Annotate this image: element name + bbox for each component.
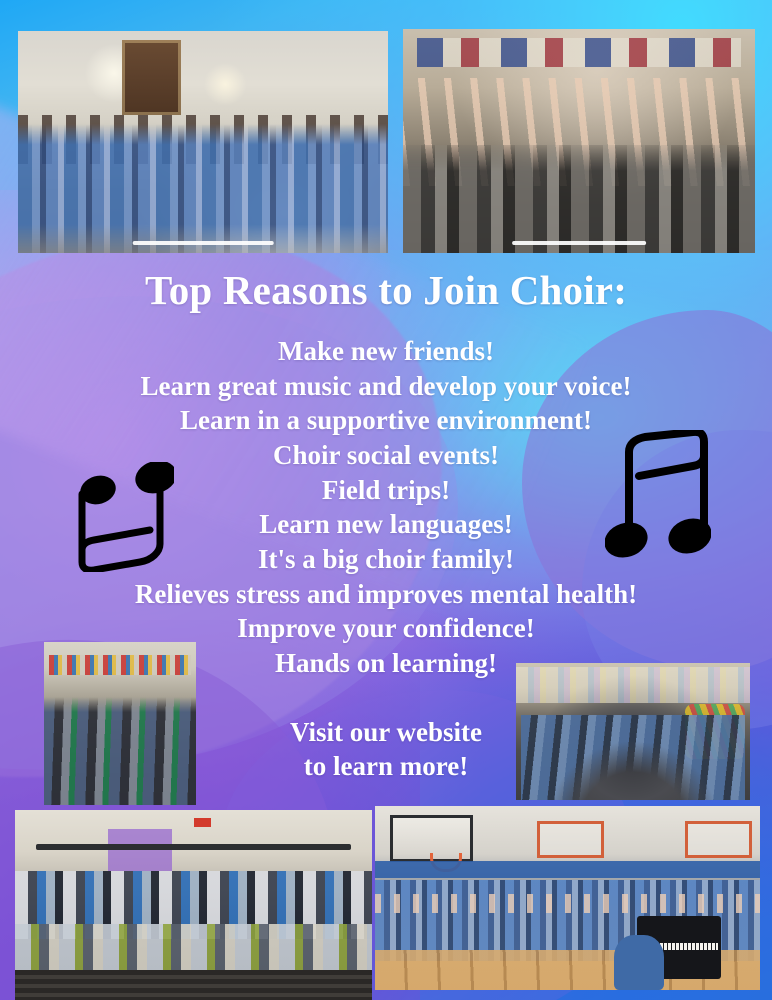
photo-group-purple-panel: [108, 829, 172, 871]
photo-group-scene: [15, 810, 372, 1000]
reasons-list: Make new friends! Learn great music and …: [0, 334, 772, 681]
photo-lobby-scene: [18, 31, 388, 253]
photo-group-railing: [36, 844, 350, 850]
photo-lobby-cabinet: [122, 40, 181, 115]
list-item: Relieves stress and improves mental heal…: [0, 577, 772, 612]
list-item: Learn new languages!: [0, 507, 772, 542]
list-item: Make new friends!: [0, 334, 772, 369]
list-item: Hands on learning!: [0, 646, 772, 681]
photo-gym-accompanist: [614, 935, 664, 990]
photo-gym-concert-piano: [375, 806, 760, 990]
list-item: Learn in a supportive environment!: [0, 403, 772, 438]
list-item: Learn great music and develop your voice…: [0, 369, 772, 404]
photo-gym-scene: [375, 806, 760, 990]
exit-sign-icon: [194, 818, 212, 828]
photo-choir-performing-lobby: [18, 31, 388, 253]
photo-gym-wall-pad: [375, 861, 760, 878]
list-item: Improve your confidence!: [0, 611, 772, 646]
list-item: Choir social events!: [0, 438, 772, 473]
basketball-backboard-icon: [537, 821, 605, 858]
page-title: Top Reasons to Join Choir:: [0, 268, 772, 314]
poster-text-block: Top Reasons to Join Choir: Make new frie…: [0, 268, 772, 784]
list-item: It's a big choir family!: [0, 542, 772, 577]
choir-recruitment-poster: Top Reasons to Join Choir: Make new frie…: [0, 0, 772, 1000]
photo-gym-outstretched-arms: [375, 894, 760, 912]
home-indicator-bar: [133, 241, 274, 245]
photo-group-risers: [15, 970, 372, 1000]
photo-cheer-scene: [403, 29, 755, 253]
home-indicator-bar: [512, 241, 646, 245]
list-item: Field trips!: [0, 473, 772, 508]
photo-cheer-wall-banners: [417, 38, 741, 67]
photo-cheer-students: [403, 145, 755, 253]
cta-line-1: Visit our website: [0, 715, 772, 750]
call-to-action: Visit our website to learn more!: [0, 715, 772, 784]
photo-lobby-singers: [18, 124, 388, 253]
cta-line-2: to learn more!: [0, 749, 772, 784]
basketball-hoop-icon: [390, 815, 473, 861]
photo-students-cheering: [403, 29, 755, 253]
photo-group-photo-risers: [15, 810, 372, 1000]
basketball-backboard-icon: [685, 821, 753, 858]
